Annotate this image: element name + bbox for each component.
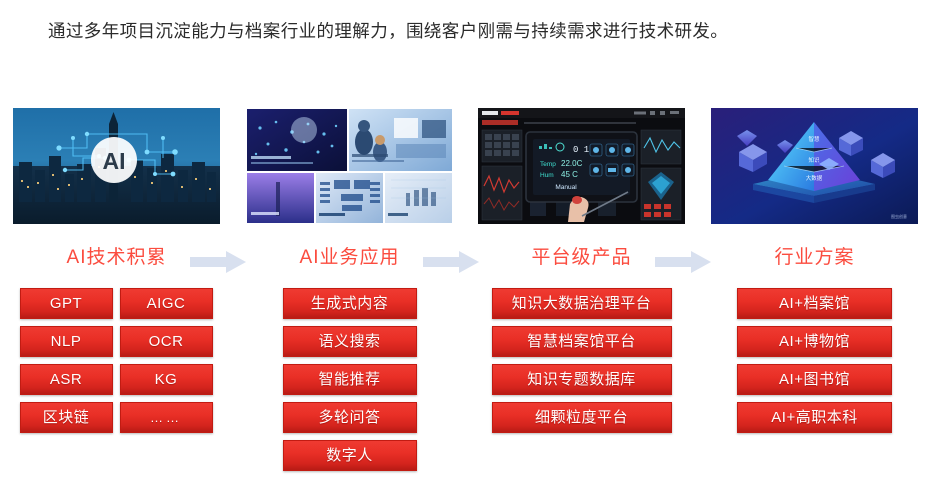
tag-multi-turn-qa[interactable]: 多轮问答 bbox=[283, 402, 417, 433]
thumbnail-city-ai: AI bbox=[13, 108, 220, 224]
svg-text:Manual: Manual bbox=[555, 184, 577, 191]
pipeline-columns: AI AI技术积累 GPT AIGC NLP OCR ASR KG 区块链 …… bbox=[0, 108, 933, 482]
svg-text:大数据: 大数据 bbox=[806, 174, 823, 182]
thumbnail-pyramid: 智慧 知识 大数据 图虫创意 bbox=[711, 108, 918, 224]
column-title-platform: 平台级产品 bbox=[478, 244, 685, 272]
thumbnail-control-panel: 0 1 Temp 22.0C Hum 45 C Manual bbox=[478, 108, 685, 224]
tag-asr[interactable]: ASR bbox=[20, 364, 113, 395]
tag-aigc[interactable]: AIGC bbox=[120, 288, 213, 319]
tag-knowledge-topic-database[interactable]: 知识专题数据库 bbox=[492, 364, 672, 395]
flow-arrow-2-icon bbox=[423, 251, 479, 273]
pipeline-column-platform: 0 1 Temp 22.0C Hum 45 C Manual bbox=[478, 108, 685, 433]
pipeline-column-industry: 智慧 知识 大数据 图虫创意 bbox=[711, 108, 918, 433]
flow-arrow-1-icon bbox=[190, 251, 246, 273]
column-title-industry: 行业方案 bbox=[711, 244, 918, 272]
flow-arrow-3-icon bbox=[655, 251, 711, 273]
tag-gpt[interactable]: GPT bbox=[20, 288, 113, 319]
tag-ai-vocational[interactable]: AI+高职本科 bbox=[737, 402, 892, 433]
tag-ai-library[interactable]: AI+图书馆 bbox=[737, 364, 892, 395]
column-title-ai-business: AI业务应用 bbox=[246, 244, 453, 272]
tag-nlp[interactable]: NLP bbox=[20, 326, 113, 357]
page-heading: 通过多年项目沉淀能力与档案行业的理解力，围绕客户刚需与持续需求进行技术研发。 bbox=[48, 18, 728, 43]
tag-digital-human[interactable]: 数字人 bbox=[283, 440, 417, 471]
svg-text:知识: 知识 bbox=[808, 156, 820, 164]
svg-text:45 C: 45 C bbox=[561, 170, 578, 179]
pipeline-column-ai-tech: AI AI技术积累 GPT AIGC NLP OCR ASR KG 区块链 …… bbox=[13, 108, 220, 433]
tag-ocr[interactable]: OCR bbox=[120, 326, 213, 357]
tag-smart-archive-platform[interactable]: 智慧档案馆平台 bbox=[492, 326, 672, 357]
svg-text:Hum: Hum bbox=[540, 172, 554, 179]
tag-list-ai-tech: GPT AIGC NLP OCR ASR KG 区块链 …… bbox=[16, 288, 216, 433]
tag-more[interactable]: …… bbox=[120, 402, 213, 433]
tag-smart-recommendation[interactable]: 智能推荐 bbox=[283, 364, 417, 395]
tag-list-platform: 知识大数据治理平台 智慧档案馆平台 知识专题数据库 细颗粒度平台 bbox=[478, 288, 685, 433]
tag-kg[interactable]: KG bbox=[120, 364, 213, 395]
svg-text:图虫创意: 图虫创意 bbox=[891, 213, 907, 219]
tag-fine-granularity-platform[interactable]: 细颗粒度平台 bbox=[492, 402, 672, 433]
tag-knowledge-bigdata-platform[interactable]: 知识大数据治理平台 bbox=[492, 288, 672, 319]
column-title-ai-tech: AI技术积累 bbox=[13, 244, 220, 272]
svg-text:0 1: 0 1 bbox=[573, 145, 589, 155]
pipeline-column-ai-business: AI业务应用 生成式内容 语义搜索 智能推荐 多轮问答 数字人 bbox=[246, 108, 453, 471]
svg-text:Temp: Temp bbox=[540, 161, 556, 168]
svg-text:智慧: 智慧 bbox=[808, 135, 820, 143]
tag-list-industry: AI+档案馆 AI+博物馆 AI+图书馆 AI+高职本科 bbox=[711, 288, 918, 433]
tag-ai-archive[interactable]: AI+档案馆 bbox=[737, 288, 892, 319]
tag-ai-museum[interactable]: AI+博物馆 bbox=[737, 326, 892, 357]
tag-semantic-search[interactable]: 语义搜索 bbox=[283, 326, 417, 357]
tag-generative-content[interactable]: 生成式内容 bbox=[283, 288, 417, 319]
thumbnail-exhibition-collage bbox=[246, 108, 453, 224]
svg-text:AI: AI bbox=[103, 148, 126, 174]
tag-blockchain[interactable]: 区块链 bbox=[20, 402, 113, 433]
svg-text:22.0C: 22.0C bbox=[561, 159, 583, 168]
tag-list-ai-business: 生成式内容 语义搜索 智能推荐 多轮问答 数字人 bbox=[246, 288, 453, 471]
